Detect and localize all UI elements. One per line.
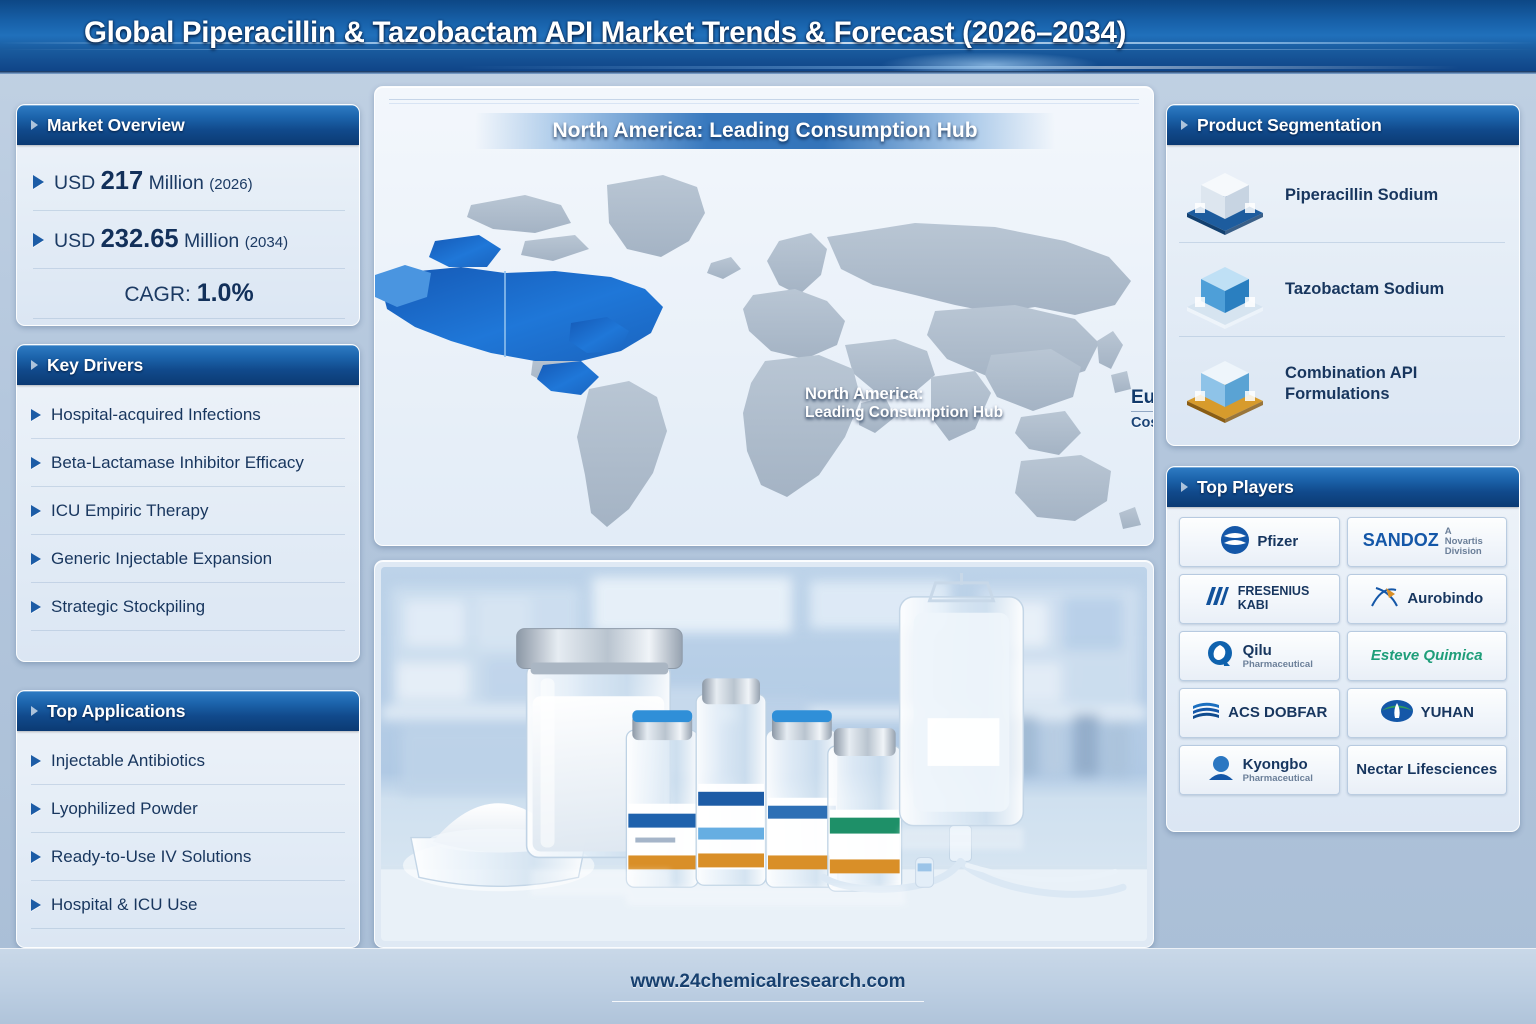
key-driver-item[interactable]: ICU Empiric Therapy: [31, 487, 345, 535]
player-name: FRESENIUS KABI: [1238, 584, 1316, 613]
panel-title: Market Overview: [47, 115, 185, 136]
panel-header-top-applications: Top Applications: [17, 691, 359, 731]
key-driver-item[interactable]: Strategic Stockpiling: [31, 583, 345, 631]
cagr-value: CAGR: 1.0%: [124, 279, 253, 308]
pfizer-mark-icon: [1220, 525, 1250, 560]
fresenius-mark-icon: [1203, 583, 1231, 616]
player-name-wrap: Esteve Quimica: [1371, 647, 1483, 665]
map-top-rule: [389, 99, 1139, 100]
player-tagline: A Novartis Division: [1445, 527, 1491, 557]
player-name: Pfizer: [1257, 533, 1298, 550]
product-segment-row[interactable]: Combination API Formulations: [1179, 337, 1505, 431]
player-name: YUHAN: [1421, 704, 1474, 721]
player-logo-cell[interactable]: Aurobindo: [1347, 574, 1508, 624]
key-driver-label: Beta-Lactamase Inhibitor Efficacy: [51, 453, 304, 473]
overview-row-2034: USD 232.65 Million (2034): [33, 211, 345, 269]
player-name: Kyongbo: [1243, 756, 1308, 773]
bullet-triangle-icon: [31, 851, 41, 863]
region-note: Leading Consumption Hub: [805, 404, 1003, 422]
region-name: North America:: [805, 385, 1003, 404]
overview-row-2026: USD 217 Million (2026): [33, 153, 345, 211]
player-name-wrap: KyongboPharmaceutical: [1243, 756, 1313, 784]
key-driver-label: Hospital-acquired Infections: [51, 405, 261, 425]
product-segment-label: Tazobactam Sodium: [1285, 279, 1444, 300]
top-application-label: Injectable Antibiotics: [51, 751, 205, 771]
aurobindo-mark-icon: [1370, 584, 1400, 615]
api-cube-icon: [1179, 345, 1271, 423]
panel-header-top-players: Top Players: [1167, 467, 1519, 507]
region-name: Europe: [1131, 387, 1154, 409]
overview-row-cagr: CAGR: 1.0%: [33, 269, 345, 319]
bullet-triangle-icon: [31, 409, 41, 421]
key-driver-item[interactable]: Generic Injectable Expansion: [31, 535, 345, 583]
region-rule: [1131, 411, 1154, 412]
segmentation-list: Piperacillin SodiumTazobactam SodiumComb…: [1167, 145, 1519, 435]
player-logo-cell[interactable]: SANDOZA Novartis Division: [1347, 517, 1508, 567]
key-driver-item[interactable]: Hospital-acquired Infections: [31, 391, 345, 439]
top-application-label: Ready-to-Use IV Solutions: [51, 847, 251, 867]
map-top-rule-2: [389, 103, 1139, 104]
player-logo-cell[interactable]: QiluPharmaceutical: [1179, 631, 1340, 681]
page-title: Global Piperacillin & Tazobactam API Mar…: [84, 16, 1126, 50]
top-application-label: Lyophilized Powder: [51, 799, 198, 819]
player-name: Aurobindo: [1407, 590, 1483, 607]
top-application-item[interactable]: Hospital & ICU Use: [31, 881, 345, 929]
header-streak-3: [0, 66, 1536, 69]
panel-key-drivers: Key Drivers Hospital-acquired Infections…: [16, 344, 360, 662]
player-logo-cell[interactable]: Pfizer: [1179, 517, 1340, 567]
product-segment-row[interactable]: Piperacillin Sodium: [1179, 149, 1505, 243]
panel-header-market-overview: Market Overview: [17, 105, 359, 145]
page-header-bar: Global Piperacillin & Tazobactam API Mar…: [0, 0, 1536, 74]
panel-title: Product Segmentation: [1197, 115, 1382, 136]
bullet-triangle-icon: [31, 553, 41, 565]
player-tagline: Pharmaceutical: [1243, 774, 1313, 784]
player-logo-cell[interactable]: Esteve Quimica: [1347, 631, 1508, 681]
bullet-triangle-icon: [33, 233, 44, 247]
top-application-item[interactable]: Injectable Antibiotics: [31, 737, 345, 785]
map-label-europe: Europe Cost-Controlled Demand: [1131, 387, 1154, 431]
top-application-label: Hospital & ICU Use: [51, 895, 197, 915]
kyongbo-mark-icon: [1206, 754, 1236, 787]
key-driver-label: Generic Injectable Expansion: [51, 549, 272, 569]
map-label-north-america: North America: Leading Consumption Hub: [805, 385, 1003, 422]
bullet-triangle-icon: [33, 175, 44, 189]
top-players-grid: PfizerSANDOZA Novartis DivisionFRESENIUS…: [1167, 507, 1519, 807]
bullet-triangle-icon: [31, 755, 41, 767]
acs-mark-icon: [1191, 698, 1221, 729]
player-name-wrap: Nectar Lifesciences: [1356, 761, 1497, 779]
market-overview-list: USD 217 Million (2026) USD 232.65 Millio…: [17, 145, 359, 325]
region-note: Cost-Controlled Demand: [1131, 415, 1154, 431]
key-drivers-list: Hospital-acquired InfectionsBeta-Lactama…: [17, 385, 359, 639]
bullet-triangle-icon: [31, 505, 41, 517]
caret-right-icon: [31, 120, 38, 130]
player-name-wrap: YUHAN: [1421, 704, 1474, 722]
top-application-item[interactable]: Lyophilized Powder: [31, 785, 345, 833]
panel-market-overview: Market Overview USD 217 Million (2026) U…: [16, 104, 360, 326]
product-segment-row[interactable]: Tazobactam Sodium: [1179, 243, 1505, 337]
header-bottom-rule: [0, 71, 1536, 74]
map-banner-label: North America: Leading Consumption Hub: [552, 119, 977, 143]
player-name-wrap: ACS DOBFAR: [1228, 704, 1327, 722]
qilu-mark-icon: [1206, 639, 1236, 674]
player-logo-cell[interactable]: Nectar Lifesciences: [1347, 745, 1508, 795]
product-segment-label: Piperacillin Sodium: [1285, 185, 1438, 206]
player-name: ACS DOBFAR: [1228, 704, 1327, 721]
key-driver-label: Strategic Stockpiling: [51, 597, 205, 617]
product-segment-label: Combination API Formulations: [1285, 363, 1505, 404]
laboratory-photo: [381, 567, 1147, 941]
lab-scene-illustration: [381, 567, 1147, 941]
caret-right-icon: [1181, 120, 1188, 130]
player-tagline: Pharmaceutical: [1243, 660, 1313, 670]
yuhan-mark-icon: [1380, 698, 1414, 729]
top-applications-list: Injectable AntibioticsLyophilized Powder…: [17, 731, 359, 937]
panel-top-players: Top Players PfizerSANDOZA Novartis Divis…: [1166, 466, 1520, 832]
player-logo-cell[interactable]: FRESENIUS KABI: [1179, 574, 1340, 624]
player-name: Esteve Quimica: [1371, 647, 1483, 664]
bullet-triangle-icon: [31, 899, 41, 911]
footer-url[interactable]: www.24chemicalresearch.com: [0, 971, 1536, 993]
player-name: SANDOZ: [1363, 530, 1439, 550]
footer-rule: [612, 1001, 924, 1002]
top-application-item[interactable]: Ready-to-Use IV Solutions: [31, 833, 345, 881]
page-footer: www.24chemicalresearch.com: [0, 948, 1536, 1024]
player-name-wrap: FRESENIUS KABI: [1238, 584, 1316, 614]
player-name-wrap: SANDOZA Novartis Division: [1363, 527, 1491, 557]
player-name-wrap: Aurobindo: [1407, 590, 1483, 608]
player-name: Qilu: [1243, 642, 1272, 659]
map-banner: North America: Leading Consumption Hub: [475, 113, 1055, 149]
key-driver-item[interactable]: Beta-Lactamase Inhibitor Efficacy: [31, 439, 345, 487]
caret-right-icon: [31, 706, 38, 716]
panel-header-product-segmentation: Product Segmentation: [1167, 105, 1519, 145]
panel-title: Top Applications: [47, 701, 185, 722]
player-name-wrap: QiluPharmaceutical: [1243, 642, 1313, 670]
overview-value-2026: USD 217 Million (2026): [54, 167, 253, 196]
caret-right-icon: [1181, 482, 1188, 492]
api-cube-icon: [1179, 251, 1271, 329]
panel-top-applications: Top Applications Injectable AntibioticsL…: [16, 690, 360, 948]
overview-value-2034: USD 232.65 Million (2034): [54, 225, 288, 254]
caret-right-icon: [31, 360, 38, 370]
bullet-triangle-icon: [31, 457, 41, 469]
player-logo-cell[interactable]: ACS DOBFAR: [1179, 688, 1340, 738]
panel-regional-map: North America: Leading Consumption Hub: [374, 86, 1154, 546]
bullet-triangle-icon: [31, 601, 41, 613]
player-logo-cell[interactable]: YUHAN: [1347, 688, 1508, 738]
panel-header-key-drivers: Key Drivers: [17, 345, 359, 385]
panel-title: Key Drivers: [47, 355, 143, 376]
player-logo-cell[interactable]: KyongboPharmaceutical: [1179, 745, 1340, 795]
world-map-graphic: [375, 145, 1154, 545]
panel-laboratory-photo: [374, 560, 1154, 948]
api-cube-icon: [1179, 157, 1271, 235]
player-name: Nectar Lifesciences: [1356, 761, 1497, 778]
bullet-triangle-icon: [31, 803, 41, 815]
panel-product-segmentation: Product Segmentation Piperacillin Sodium…: [1166, 104, 1520, 446]
panel-title: Top Players: [1197, 477, 1294, 498]
key-driver-label: ICU Empiric Therapy: [51, 501, 208, 521]
player-name-wrap: Pfizer: [1257, 533, 1298, 551]
